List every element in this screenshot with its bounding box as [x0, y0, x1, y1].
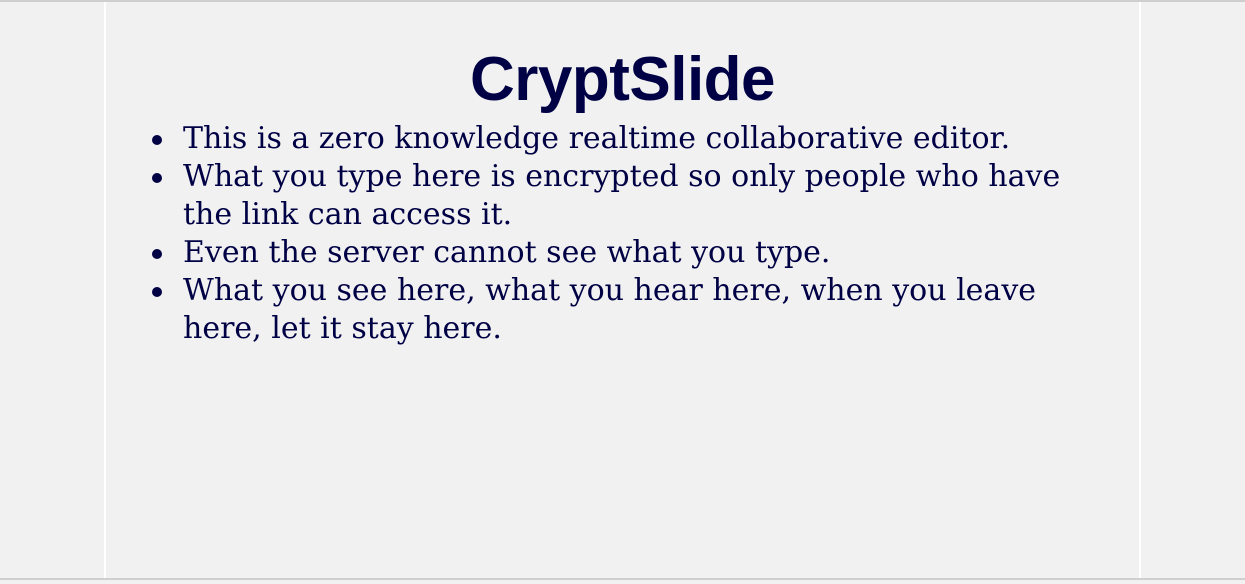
- bullet-item-2[interactable]: What you type here is encrypted so only …: [152, 158, 1109, 234]
- slide-right-frame-line: [1139, 2, 1141, 578]
- bullet-disc-icon: [152, 287, 162, 297]
- bullet-disc-icon: [152, 249, 162, 259]
- bullet-list: This is a zero knowledge realtime collab…: [106, 120, 1139, 348]
- slide-canvas[interactable]: CryptSlide This is a zero knowledge real…: [106, 2, 1139, 578]
- bullet-item-label: What you type here is encrypted so only …: [183, 158, 1109, 234]
- bullet-disc-icon: [152, 135, 162, 145]
- slide-body[interactable]: This is a zero knowledge realtime collab…: [106, 120, 1139, 348]
- bullet-item-1[interactable]: This is a zero knowledge realtime collab…: [152, 120, 1109, 158]
- bullet-item-label: Even the server cannot see what you type…: [183, 234, 1109, 272]
- slide-viewer: CryptSlide This is a zero knowledge real…: [0, 0, 1245, 584]
- bullet-item-3[interactable]: Even the server cannot see what you type…: [152, 234, 1109, 272]
- bullet-item-4[interactable]: What you see here, what you hear here, w…: [152, 272, 1109, 348]
- bottom-divider-rule: [0, 578, 1245, 580]
- bullet-disc-icon: [152, 173, 162, 183]
- bullet-item-label: What you see here, what you hear here, w…: [183, 272, 1109, 348]
- bullet-item-label: This is a zero knowledge realtime collab…: [183, 120, 1109, 158]
- slide-title[interactable]: CryptSlide: [106, 44, 1139, 116]
